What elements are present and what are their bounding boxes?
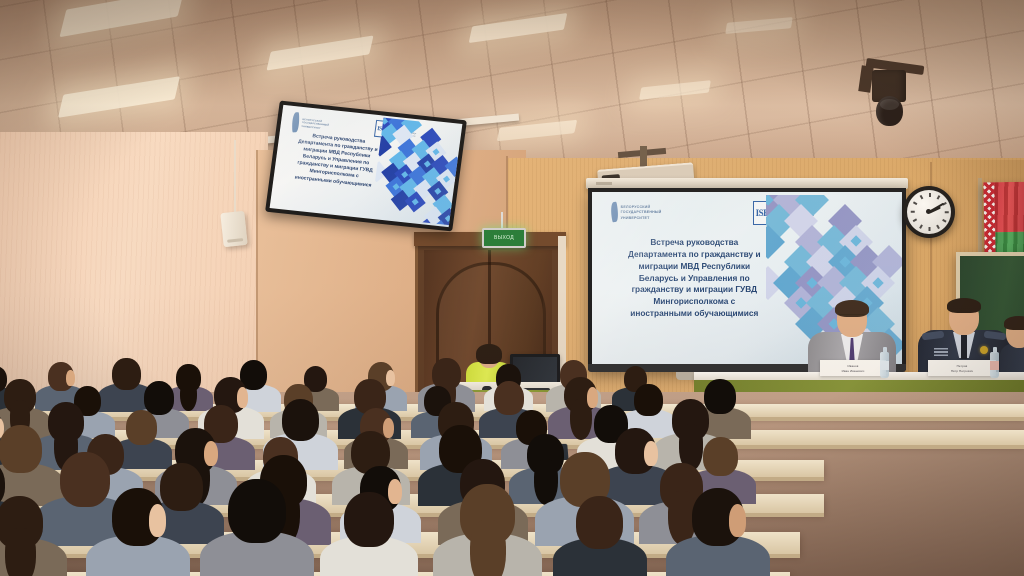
audience-member-face (237, 387, 248, 407)
audience-member-face (204, 441, 218, 466)
audience-member-head (160, 463, 203, 511)
water-bottle (990, 352, 999, 378)
audience-member-face (388, 479, 402, 504)
audience-member-head (576, 496, 623, 548)
audience-member-head (634, 384, 663, 416)
bsu-logo-line: БЕЛОРУССКИЙ (621, 205, 662, 209)
audience-member-head (494, 381, 524, 415)
clock-tick (937, 225, 940, 229)
name-placard: Петров Пётр Петрович (928, 360, 996, 376)
hair (947, 298, 981, 313)
slide-title-line: гражданству и миграции ГУВД (608, 284, 782, 296)
speaker-cord (234, 140, 236, 214)
audience-member-hair (180, 381, 196, 412)
audience-member-head (282, 399, 319, 441)
audience-member-face (66, 370, 75, 386)
clock-tick (942, 219, 946, 222)
audience-member-head (144, 381, 174, 415)
tv-slide-title: Встреча руководства Департамента по граж… (282, 131, 389, 191)
clock-tick (920, 225, 923, 229)
audience-member-head (112, 358, 141, 390)
clock-tick (929, 227, 931, 231)
slide-title: Встреча руководства Департамента по граж… (608, 237, 782, 319)
camera-lens (876, 96, 903, 126)
clock-tick (945, 211, 949, 213)
slide-title-line: Встреча руководства (608, 237, 782, 249)
exit-sign: ВЫХОД (482, 228, 526, 248)
audience-member-face (149, 504, 167, 536)
tv-belarusian-ornament (370, 118, 462, 226)
clock-tick (929, 193, 931, 197)
name-placard: Иванов Иван Иванович (820, 360, 886, 376)
clock-tick (920, 195, 923, 199)
clock-tick (937, 195, 940, 199)
necktie (961, 335, 967, 359)
audience-member-face (386, 370, 395, 386)
audience-member-face (729, 504, 747, 536)
slide-title-line: иностранными обучающимися (608, 308, 782, 320)
audience-member-head (60, 452, 110, 507)
audience-member-head (126, 410, 157, 444)
audience-member-face (644, 441, 658, 466)
audience-member-head (344, 492, 393, 547)
audience-member-hair (470, 520, 506, 576)
clock-tick (911, 211, 915, 213)
belarus-flag-icon (983, 182, 1024, 261)
uniform-badge-icon (980, 346, 988, 354)
audience-member-head (0, 425, 42, 473)
bsu-logo-line: ГОСУДАРСТВЕННЫЙ (621, 210, 662, 214)
audience-member-head (704, 379, 736, 414)
eyes (839, 314, 865, 321)
slide-title-line: Беларусь и Управления по (608, 273, 782, 285)
bsu-flame-icon (292, 112, 299, 132)
placard-line: Пётр Петрович (951, 369, 973, 373)
hair (1004, 316, 1024, 330)
placard-line: Иванов (848, 364, 859, 368)
water-bottle (880, 352, 889, 378)
placard-line: Иван Иванович (842, 369, 865, 373)
tv-slide: БЕЛОРУССКИЙ ГОСУДАРСТВЕННЫЙ УНИВЕРСИТЕТ … (270, 105, 463, 227)
slide-title-line: миграции МВД Республики (608, 261, 782, 273)
bsu-logo: БЕЛОРУССКИЙ ГОСУДАРСТВЕННЫЙ УНИВЕРСИТЕТ (611, 202, 662, 222)
clock-tick (913, 219, 917, 222)
tv-screen-surface: БЕЛОРУССКИЙ ГОСУДАРСТВЕННЫЙ УНИВЕРСИТЕТ … (270, 105, 463, 227)
bsu-logo-line: УНИВЕРСИТЕТ (621, 216, 662, 220)
hair (476, 344, 502, 364)
tv-bezel: БЕЛОРУССКИЙ ГОСУДАРСТВЕННЫЙ УНИВЕРСИТЕТ … (265, 100, 467, 231)
slide-title-line: Мингорисполкома с (608, 296, 782, 308)
audience-member-head (703, 437, 738, 476)
flag-folds (994, 182, 1024, 261)
audience-member-head (228, 479, 285, 543)
slide-title-line: Департамента по гражданству и (608, 249, 782, 261)
wall-mounted-tv: БЕЛОРУССКИЙ ГОСУДАРСТВЕННЫЙ УНИВЕРСИТЕТ … (265, 100, 467, 231)
audience-member-face (587, 387, 598, 407)
wall-speaker-icon (220, 211, 247, 247)
placard-line: Петров (957, 364, 968, 368)
audience-member-face (383, 418, 394, 438)
clock-tick (913, 202, 917, 205)
exit-sign-label: ВЫХОД (494, 235, 514, 241)
lecture-hall-photo: ВЫХОД БЕЛОРУССКИЙ ГОСУДАРСТВЕННЫЙ УНИВЕР… (0, 0, 1024, 576)
clock-center-pin (926, 209, 931, 214)
uniform-insignia (934, 348, 948, 356)
presidium-third-person (1000, 316, 1024, 378)
audience-member-hair (5, 528, 36, 576)
bsu-flame-icon (609, 202, 619, 223)
